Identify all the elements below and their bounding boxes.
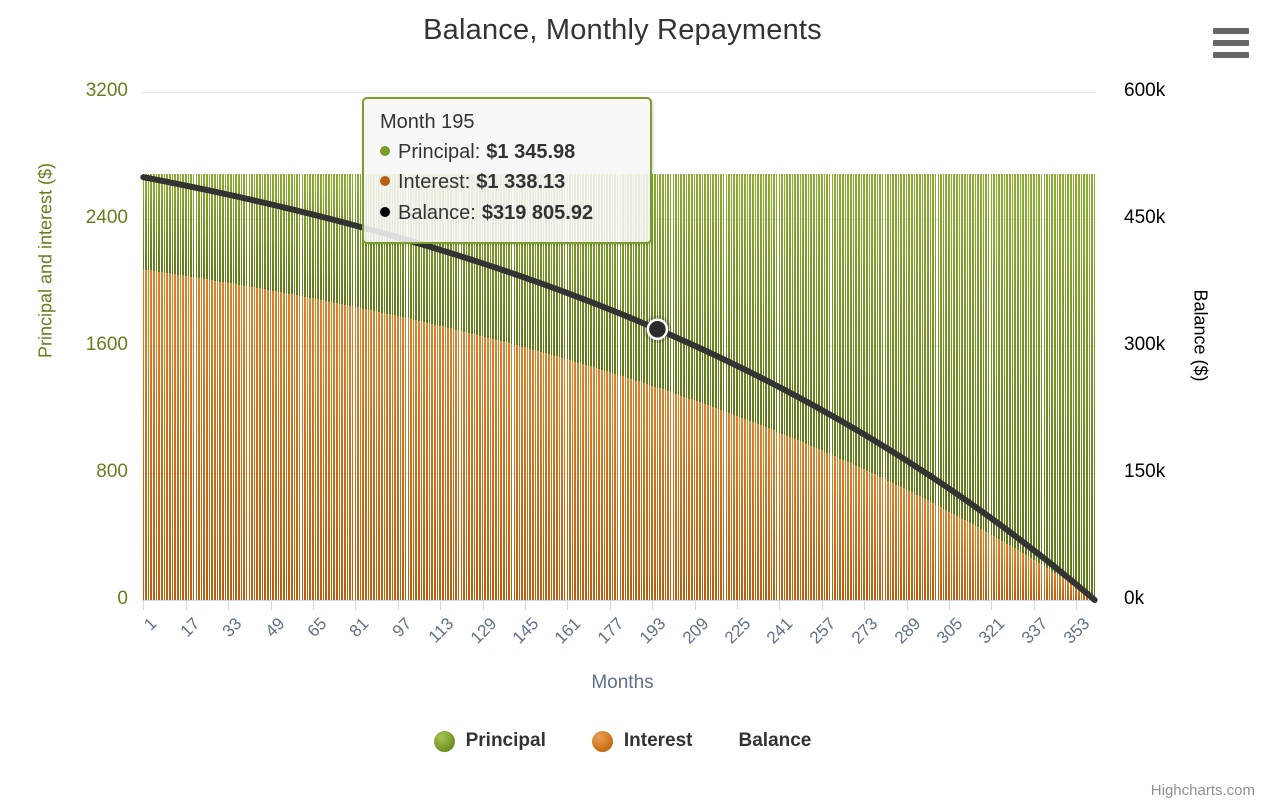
x-axis-tick-mark — [737, 600, 738, 610]
x-axis-tick-mark — [483, 600, 484, 610]
y-axis-right-tick-label: 0k — [1124, 588, 1144, 610]
y-axis-right-tick-label: 450k — [1124, 207, 1165, 229]
tooltip-series-value: $1 345.98 — [486, 137, 575, 167]
y-axis-left-title: Principal and interest ($) — [36, 111, 57, 411]
x-axis-tick-mark — [355, 600, 356, 610]
x-axis-tick-mark — [1034, 600, 1035, 610]
legend-item-principal[interactable]: Principal — [434, 730, 546, 752]
x-axis-title: Months — [0, 672, 1245, 694]
x-axis-tick-mark — [991, 600, 992, 610]
tooltip-series-value: $1 338.13 — [476, 167, 565, 197]
legend-item-interest[interactable]: Interest — [592, 730, 693, 752]
legend-item-balance[interactable]: Balance — [739, 730, 812, 752]
y-axis-left-tick-label: 0 — [117, 588, 128, 610]
x-axis-tick-mark — [1076, 600, 1077, 610]
legend-item-label: Balance — [739, 730, 812, 752]
x-axis-tick-mark — [271, 600, 272, 610]
tooltip-row: Balance:$319 805.92 — [380, 198, 634, 228]
x-axis-tick-mark — [652, 600, 653, 610]
hamburger-bar-2 — [1213, 40, 1249, 46]
legend: PrincipalInterestBalance — [0, 730, 1245, 752]
y-axis-right-tick-label: 150k — [1124, 461, 1165, 483]
tooltip-series-name: Interest: — [398, 167, 470, 197]
gridline — [142, 600, 1096, 601]
hover-point-marker[interactable] — [648, 320, 667, 339]
tooltip-row: Interest:$1 338.13 — [380, 167, 634, 197]
tooltip-series-name: Balance: — [398, 198, 476, 228]
x-axis-tick-mark — [313, 600, 314, 610]
y-axis-left-tick-label: 1600 — [86, 334, 128, 356]
tooltip: Month 195 Principal:$1 345.98Interest:$1… — [362, 97, 652, 244]
tooltip-series-name: Principal: — [398, 137, 480, 167]
y-axis-right-tick-label: 600k — [1124, 80, 1165, 102]
x-axis-tick-mark — [186, 600, 187, 610]
legend-item-label: Interest — [624, 730, 693, 752]
x-axis-tick-mark — [864, 600, 865, 610]
x-axis-tick-mark — [949, 600, 950, 610]
x-axis-tick-mark — [398, 600, 399, 610]
tooltip-header: Month 195 — [380, 111, 634, 134]
x-axis-tick-mark — [907, 600, 908, 610]
tooltip-series-dot-icon — [380, 146, 390, 156]
y-axis-right-tick-label: 300k — [1124, 334, 1165, 356]
x-axis-tick-mark — [822, 600, 823, 610]
x-axis-tick-mark — [228, 600, 229, 610]
legend-item-label: Principal — [466, 730, 546, 752]
tooltip-series-dot-icon — [380, 176, 390, 186]
x-axis-tick-mark — [695, 600, 696, 610]
x-axis-tick-mark — [440, 600, 441, 610]
legend-marker-icon — [434, 731, 455, 752]
hamburger-menu-icon[interactable] — [1209, 16, 1253, 60]
tooltip-series-dot-icon — [380, 207, 390, 217]
legend-marker-icon — [592, 731, 613, 752]
tooltip-rows: Principal:$1 345.98Interest:$1 338.13Bal… — [380, 137, 634, 228]
x-axis-tick-mark — [143, 600, 144, 610]
tooltip-row: Principal:$1 345.98 — [380, 137, 634, 167]
x-axis-tick-mark — [610, 600, 611, 610]
x-axis-tick-mark — [567, 600, 568, 610]
hamburger-bar-3 — [1213, 52, 1249, 58]
credits-link[interactable]: Highcharts.com — [1151, 782, 1255, 799]
y-axis-left-tick-label: 800 — [96, 461, 128, 483]
x-axis-tick-mark — [525, 600, 526, 610]
y-axis-right-title: Balance ($) — [1190, 236, 1211, 436]
highcharts-container: Balance, Monthly Repayments 080016002400… — [0, 0, 1275, 811]
tooltip-series-value: $319 805.92 — [482, 198, 593, 228]
x-axis-tick-mark — [779, 600, 780, 610]
y-axis-left-tick-label: 2400 — [86, 207, 128, 229]
hamburger-bar-1 — [1213, 28, 1249, 34]
page-title: Balance, Monthly Repayments — [0, 14, 1245, 47]
y-axis-left-tick-label: 3200 — [86, 80, 128, 102]
